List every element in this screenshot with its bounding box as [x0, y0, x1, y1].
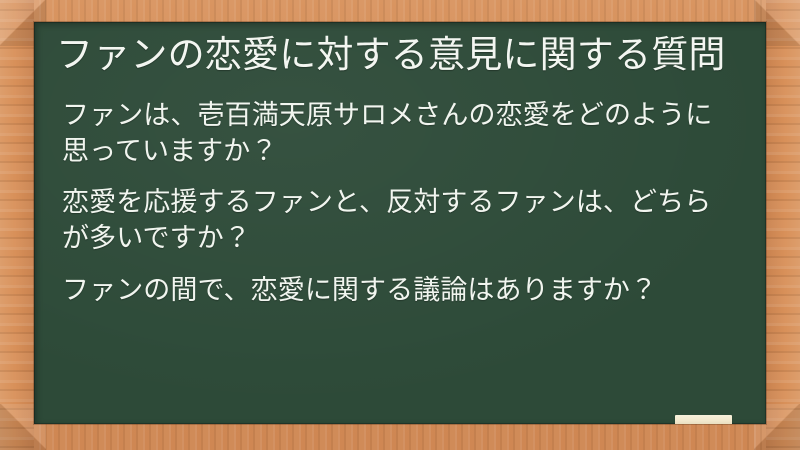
question-item-3: ファンの間で、恋愛に関する議論はありますか？ — [52, 273, 748, 309]
blackboard-slide: ファンの恋愛に対する意見に関する質問 ファンは、壱百満天原サロメさんの恋愛をどの… — [0, 0, 800, 450]
chalk-eraser-icon — [675, 415, 732, 424]
frame-rail-left — [0, 0, 34, 450]
board-content: ファンの恋愛に対する意見に関する質問 ファンは、壱百満天原サロメさんの恋愛をどの… — [34, 22, 766, 424]
question-item-2: 恋愛を応援するファンと、反対するファンは、どちらが多いですか？ — [52, 185, 748, 257]
question-list: ファンは、壱百満天原サロメさんの恋愛をどのように思っていますか？ 恋愛を応援する… — [52, 98, 748, 309]
chalkboard-surface: ファンの恋愛に対する意見に関する質問 ファンは、壱百満天原サロメさんの恋愛をどの… — [34, 22, 766, 424]
slide-title: ファンの恋愛に対する意見に関する質問 — [52, 32, 748, 78]
question-item-1: ファンは、壱百満天原サロメさんの恋愛をどのように思っていますか？ — [52, 98, 748, 170]
frame-rail-right — [766, 0, 800, 450]
